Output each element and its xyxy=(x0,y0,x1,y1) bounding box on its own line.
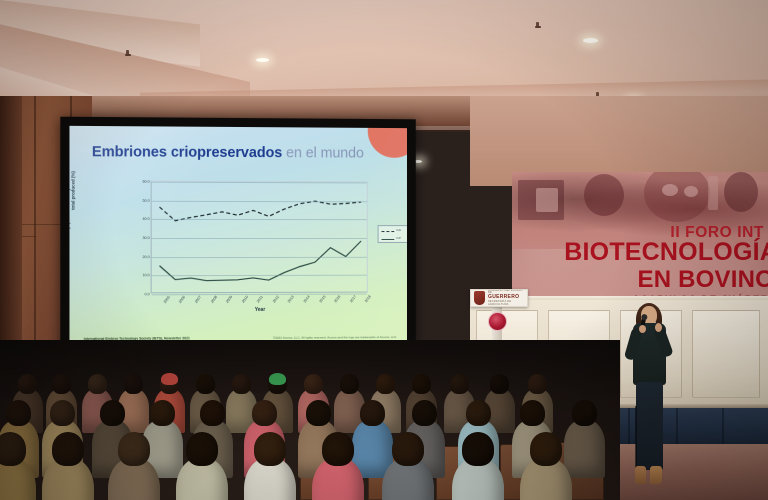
podium-sign-bottom-text: SECRETARÍA DE AGRICULTURA xyxy=(488,301,524,307)
wainscot-panel xyxy=(692,310,760,398)
slide-title-bold: Embriones criopreservados xyxy=(92,144,282,161)
projection-screen: Embriones criopreservados en el mundo Cr… xyxy=(60,117,415,358)
slide-title: Embriones criopreservados en el mundo xyxy=(92,144,364,161)
chart-legend-label: IVP xyxy=(396,236,401,240)
speaker-presenter xyxy=(622,306,676,492)
chart-plot-area: 0.010.020.030.040.050.060.02005200620072… xyxy=(151,181,368,294)
chart-x-tick: 2010 xyxy=(241,295,249,304)
chart-legend-label: IVD xyxy=(396,228,401,232)
chart-x-tick: 2014 xyxy=(303,295,311,304)
event-banner: II FORO INT BIOTECNOLOGÍA EN BOVINO ACAP… xyxy=(512,172,768,310)
sprinkler-icon xyxy=(126,50,129,55)
slide-accent-circle xyxy=(368,126,407,158)
chart-y-tick: 40.0 xyxy=(143,217,150,221)
chart-x-tick: 2007 xyxy=(194,295,202,304)
chart-y-tick: 20.0 xyxy=(143,255,150,259)
ceiling-light xyxy=(583,38,598,43)
speaker-legs xyxy=(636,382,663,470)
podium-sign: GOBIERNO DEL ESTADO DE GUERRERO SECRETAR… xyxy=(470,289,528,307)
chart-x-tick: 2013 xyxy=(287,295,295,304)
chart-y-tick: 0.0 xyxy=(145,292,150,296)
chart-x-tick: 2009 xyxy=(225,295,233,304)
chart-series-ivd xyxy=(160,201,362,221)
chart-y-axis-label: Cryopreserved embryos in relation to the… xyxy=(69,144,77,237)
speaker-left-boot xyxy=(635,466,646,484)
speaker-right-boot xyxy=(650,466,662,484)
banner-line-en-bovino: EN BOVINO xyxy=(638,266,768,294)
chart-x-tick: 2016 xyxy=(333,295,341,304)
banner-line-biotecnologia: BIOTECNOLOGÍA xyxy=(564,238,768,267)
speaker-left-hand xyxy=(639,325,646,333)
chart-gridline: 40.0 xyxy=(152,219,367,220)
ceiling-light xyxy=(256,58,269,62)
speaker-leg-split xyxy=(635,406,637,468)
chart-legend-swatch xyxy=(382,231,395,232)
chart-x-tick: 2017 xyxy=(349,295,357,304)
chart-x-tick: 2006 xyxy=(178,295,186,304)
podium-seal-icon xyxy=(488,312,507,331)
chart-gridline: 30.0 xyxy=(152,238,367,239)
slide-chart: Cryopreserved embryos in relation to the… xyxy=(110,179,399,320)
chart-y-tick: 30.0 xyxy=(143,236,150,240)
chart-y-tick: 60.0 xyxy=(143,180,150,184)
chart-y-tick: 50.0 xyxy=(143,198,150,202)
sprinkler-icon xyxy=(536,22,539,27)
chart-x-tick: 2011 xyxy=(256,295,264,304)
chart-legend-item: IVD xyxy=(382,229,407,234)
chart-x-tick: 2015 xyxy=(318,295,326,304)
chart-legend-item: IVP xyxy=(382,237,407,242)
chart-legend-swatch xyxy=(382,239,395,240)
speaker-right-hand xyxy=(655,323,662,332)
chart-x-tick: 2018 xyxy=(364,295,372,304)
chart-x-tick: 2012 xyxy=(272,295,280,304)
chart-x-tick: 2008 xyxy=(210,295,218,304)
chart-x-tick: 2005 xyxy=(163,295,171,304)
slide-title-light: en el mundo xyxy=(282,145,364,161)
conference-photo-scene: Embriones criopreservados en el mundo Cr… xyxy=(0,0,768,500)
audience-area xyxy=(0,340,620,500)
chart-x-axis-label: Year xyxy=(151,306,368,313)
chart-legend: IVDIVP xyxy=(378,225,407,243)
slide-surface: Embriones criopreservados en el mundo Cr… xyxy=(69,126,407,348)
guerrero-crest-icon xyxy=(474,291,485,305)
chart-y-tick: 10.0 xyxy=(143,274,150,278)
audience-vignette xyxy=(0,340,620,500)
